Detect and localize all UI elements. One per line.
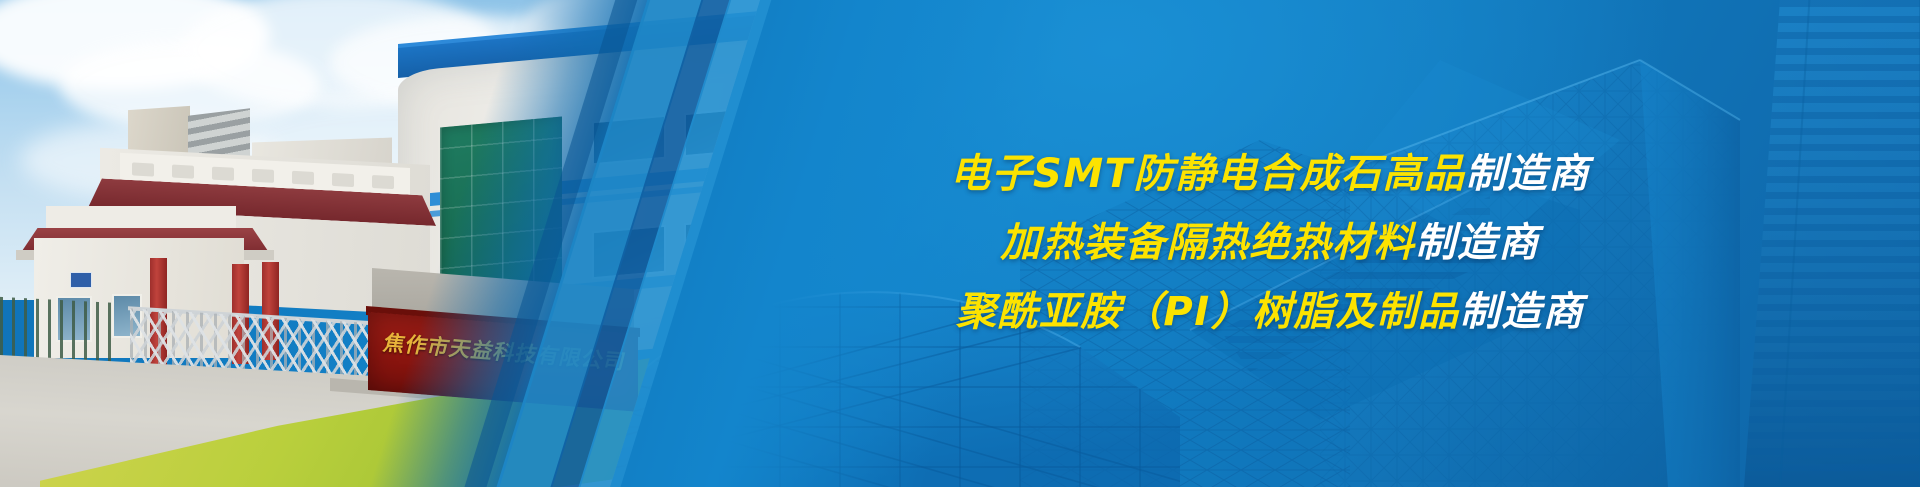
headline-line-1: 电子SMT防静电合成石高品制造商 [950,153,1590,196]
headline-1-suffix: 制造商 [1465,151,1590,197]
headline-line-2: 加热装备隔热绝热材料制造商 [1000,222,1540,265]
headline-1-highlight: 电子SMT防静电合成石高品 [950,151,1465,197]
headline-2-highlight: 加热装备隔热绝热材料 [1000,220,1415,266]
headline-3-suffix: 制造商 [1460,289,1585,335]
hero-banner: 焦作市天益科技有限公司 电子SMT防静电合成石高品制造商 加热装备隔热绝热材料制… [0,0,1920,487]
headline-line-3: 聚酰亚胺（PI）树脂及制品制造商 [956,291,1584,334]
headline-group: 电子SMT防静电合成石高品制造商 加热装备隔热绝热材料制造商 聚酰亚胺（PI）树… [0,0,1920,487]
headline-2-suffix: 制造商 [1415,220,1540,266]
headline-3-highlight: 聚酰亚胺（PI）树脂及制品 [956,289,1460,335]
